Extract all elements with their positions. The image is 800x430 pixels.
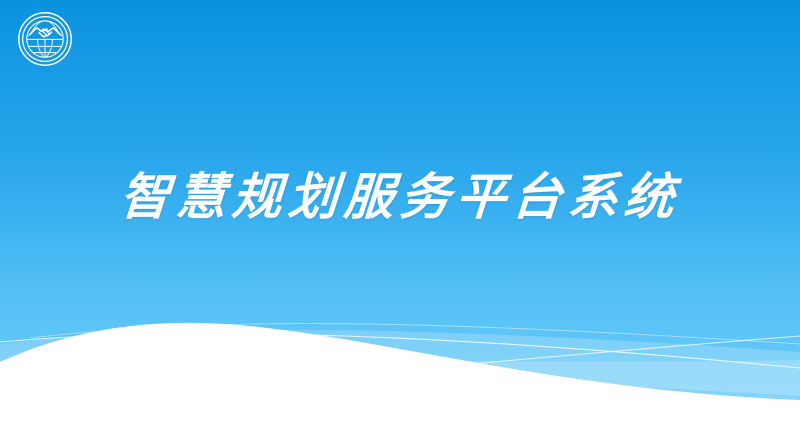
bottom-wave-graphic	[0, 300, 800, 430]
page-title: 智慧规划服务平台系统	[118, 172, 681, 222]
title-slide: 智慧规划服务平台系统	[0, 0, 800, 430]
